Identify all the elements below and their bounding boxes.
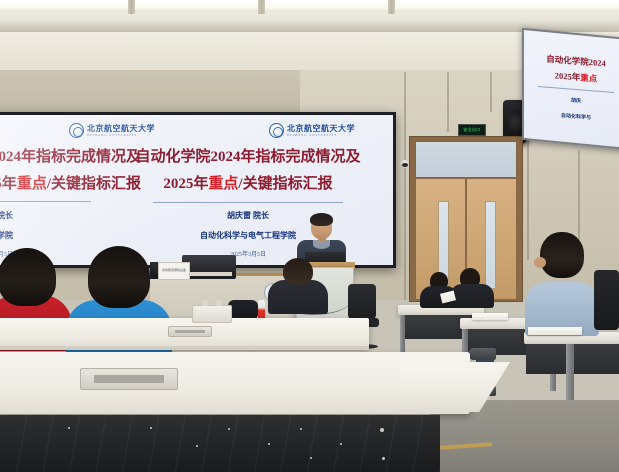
slide-title-highlight: 重点 — [208, 176, 238, 192]
logo-name-cn: 北京航空航天大学 — [87, 125, 155, 133]
side-projection-screen: 自动化学院2024 2025年重点 胡庆 自动化科学与 — [522, 28, 619, 150]
door-glass-panel — [485, 201, 496, 289]
side-slide-title-line2: 2025年重点 — [524, 67, 619, 88]
right-chair-back[interactable] — [594, 270, 619, 330]
audience-ear — [534, 257, 546, 268]
logo-name-cn: 北京航空航天大学 — [287, 125, 355, 133]
printer-paper-tray — [186, 272, 232, 276]
ceiling-beam — [258, 0, 265, 14]
audience-bag — [228, 300, 258, 320]
wall-seam — [447, 72, 449, 132]
exit-sign-label: 安全出口 — [463, 128, 480, 132]
ghost-title-highlight: 重点 — [17, 176, 47, 192]
slide-title-line1-ghost: 自动化学院2024年指标完成情况及 — [0, 147, 141, 169]
cable-grommet-large — [80, 368, 178, 390]
buaa-seal-icon — [69, 123, 84, 138]
slide-title-pre: 2025年 — [163, 176, 208, 192]
handout-paper-front — [528, 327, 582, 335]
table-edge — [0, 346, 369, 350]
ceiling-light-strip — [0, 0, 619, 12]
desk-sign-label: 请勿随意挪动设备 — [162, 269, 186, 273]
audience-shoe — [468, 348, 496, 360]
slide-title-line1: 自动化学院2024年指标完成情况及 — [123, 147, 373, 169]
slide-title-post: /关键指标汇报 — [238, 176, 332, 192]
buaa-seal-icon — [269, 123, 284, 138]
side-title-highlight: 重点 — [580, 72, 597, 83]
ghost-title-pre: 2025年 — [0, 176, 17, 192]
speaker-hair — [310, 213, 333, 226]
wall-upper-band — [0, 70, 300, 115]
desk-av-box — [192, 305, 232, 323]
slide-rule — [153, 202, 343, 203]
wall-seam — [404, 72, 406, 300]
desk-av-box-knob — [202, 300, 208, 306]
ceiling-beam — [388, 0, 395, 14]
notebook-on-desk — [472, 313, 508, 320]
slide-title-line2-ghost: 2025年重点/关键指标汇报 — [0, 174, 141, 196]
side-slide-rule — [538, 86, 614, 93]
buaa-logo-right: 北京航空航天大学 BEIHANG UNIVERSITY — [269, 123, 355, 138]
side-slide-presenter: 胡庆 — [524, 93, 619, 108]
logo-name-en: BEIHANG UNIVERSITY — [87, 134, 155, 137]
audience-head-blue — [88, 246, 150, 308]
cable-grommet — [168, 326, 212, 337]
door-transom-glass — [415, 141, 517, 178]
slide-presenter: 胡庆雷 院长 — [123, 210, 373, 221]
exit-sign: 安全出口 — [458, 124, 486, 136]
slide-department-ghost: 自动化科学与电气工程学院 — [0, 230, 13, 241]
slide-rule-ghost — [0, 201, 91, 202]
ceiling-beam — [128, 0, 135, 14]
audience-head-dark — [283, 258, 313, 285]
audience-table-front-row — [0, 352, 470, 414]
slide-title-line2: 2025年重点/关键指标汇报 — [123, 174, 373, 196]
audience-head-blue-shirt — [540, 232, 584, 278]
slide-presenter-ghost: 胡庆雷 院长 — [0, 210, 13, 221]
side-slide-department: 自动化科学与 — [524, 109, 619, 124]
side-title-pre: 2025年 — [555, 70, 581, 82]
wall-seam — [527, 140, 529, 260]
office-chair-back[interactable] — [348, 284, 376, 319]
desk-sign: 请勿随意挪动设备 — [158, 262, 190, 280]
buaa-logo-left: 北京航空航天大学 BEIHANG UNIVERSITY — [69, 123, 155, 138]
logo-name-en: BEIHANG UNIVERSITY — [287, 134, 355, 137]
audience-head-red — [0, 248, 56, 306]
desk-av-box-knob — [216, 300, 222, 306]
table-modesty-panel — [0, 415, 440, 472]
audience-torso-back-2 — [450, 284, 494, 308]
wall-seam — [490, 72, 492, 112]
water-bottle — [258, 300, 265, 319]
audience-body-dark — [268, 280, 328, 314]
lecture-hall-photo: 安全出口 自动化学院2024 2025年重点 胡庆 自动化科学与 北京航空航天大… — [0, 0, 619, 472]
